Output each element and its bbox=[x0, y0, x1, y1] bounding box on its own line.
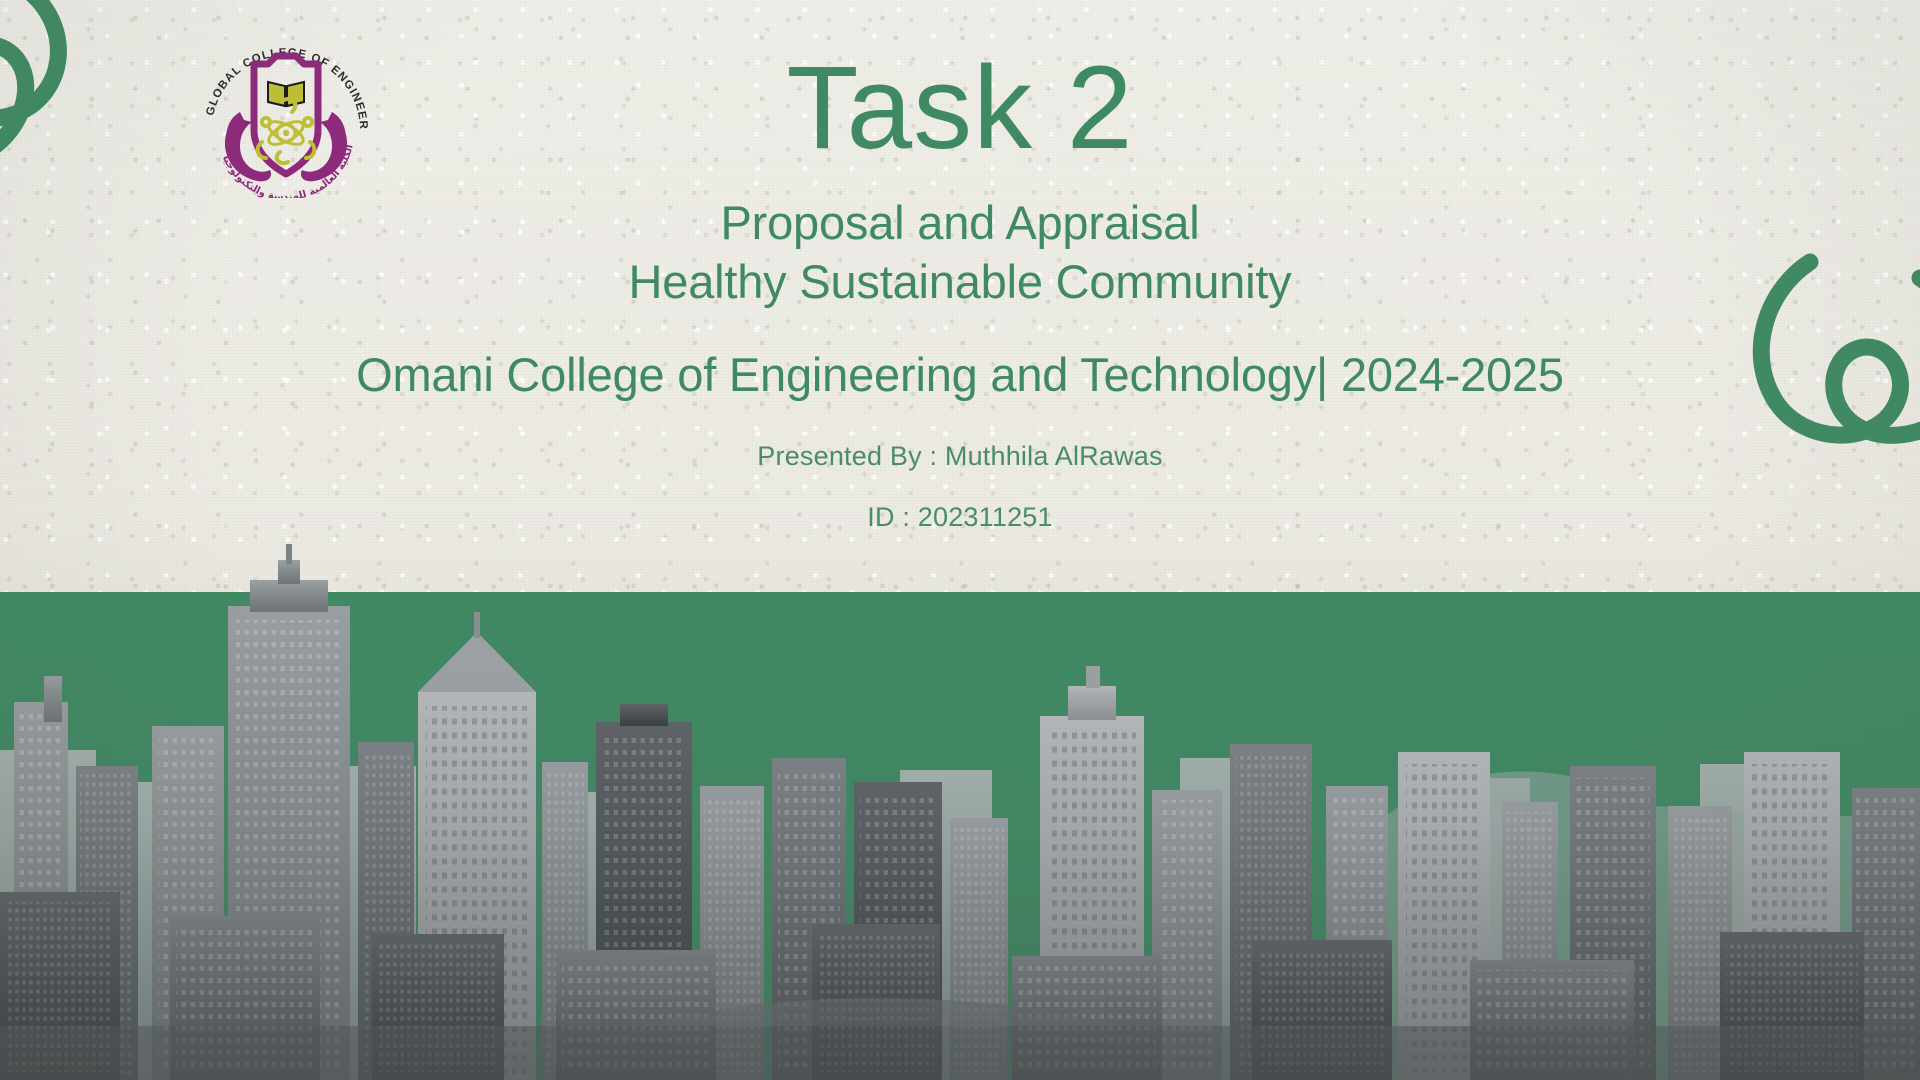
presenter-line: Presented By : Muthhila AlRawas bbox=[0, 439, 1920, 474]
subtitle-line-1: Proposal and Appraisal bbox=[0, 194, 1920, 252]
presentation-slide: GLOBAL COLLEGE OF ENGINEERING AND TECHNO… bbox=[0, 0, 1920, 1080]
organization-line: Omani College of Engineering and Technol… bbox=[0, 347, 1920, 403]
city-skyline-photo bbox=[0, 520, 1920, 1080]
subtitle-line-2: Healthy Sustainable Community bbox=[0, 253, 1920, 311]
slide-title: Task 2 bbox=[0, 48, 1920, 168]
slide-text-block: Task 2 Proposal and Appraisal Healthy Su… bbox=[0, 48, 1920, 535]
slide-subtitle: Proposal and Appraisal Healthy Sustainab… bbox=[0, 194, 1920, 311]
